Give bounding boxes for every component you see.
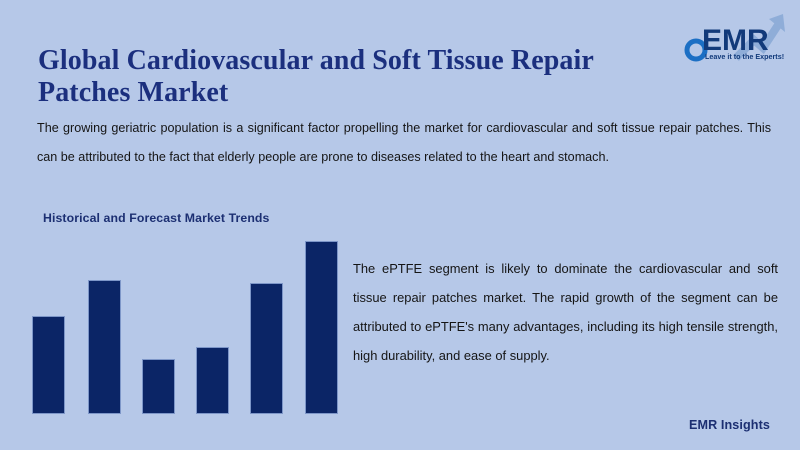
market-trends-bar-chart — [0, 0, 360, 450]
logo-tagline: Leave it to the Experts! — [705, 52, 784, 61]
chart-bar — [250, 283, 283, 414]
chart-bar — [88, 280, 121, 414]
chart-bar — [196, 347, 229, 414]
emr-logo: EMR Leave it to the Experts! — [684, 6, 788, 64]
emr-insights-label: EMR Insights — [689, 418, 770, 432]
slide-canvas: Global Cardiovascular and Soft Tissue Re… — [0, 0, 800, 450]
chart-bar — [142, 359, 175, 414]
segment-paragraph: The ePTFE segment is likely to dominate … — [353, 254, 778, 370]
chart-bar — [32, 316, 65, 414]
chart-bar — [305, 241, 338, 414]
